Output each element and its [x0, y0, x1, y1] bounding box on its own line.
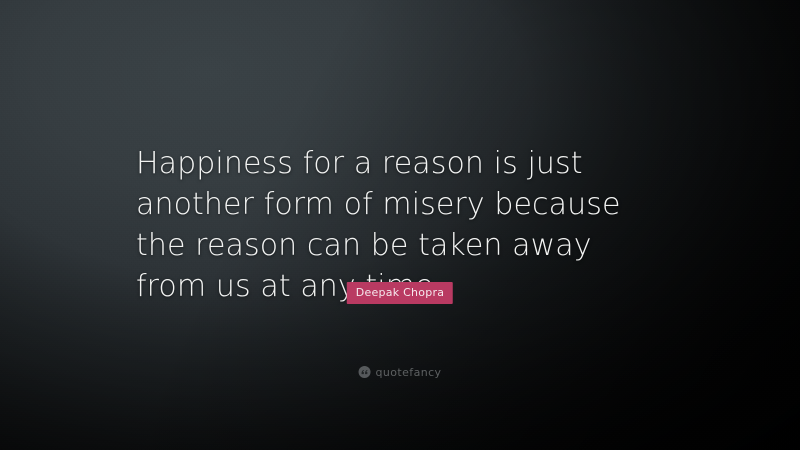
author-badge[interactable]: Deepak Chopra — [347, 282, 453, 304]
quote-poster: Happiness for a reason is just another f… — [0, 0, 800, 450]
watermark-label: quotefancy — [376, 367, 442, 378]
watermark[interactable]: quotefancy — [359, 366, 442, 378]
quote-mark-icon — [359, 366, 371, 378]
poster-content: Happiness for a reason is just another f… — [0, 0, 800, 450]
